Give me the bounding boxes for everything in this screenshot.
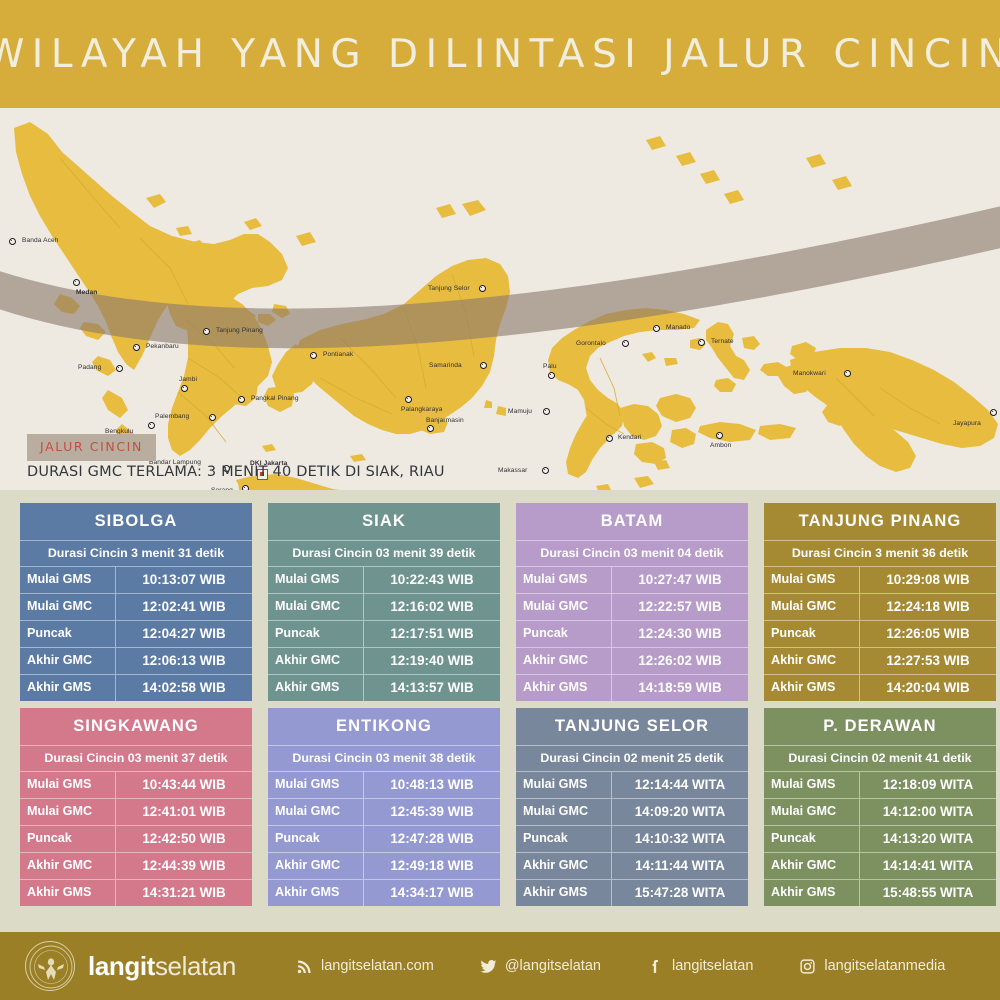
brand-light: selatan	[155, 951, 236, 981]
city-marker-dot	[542, 467, 549, 474]
city-marker-dot	[73, 279, 80, 286]
city-marker-dot	[653, 325, 660, 332]
row-value: 12:24:30 WIB	[612, 621, 748, 647]
row-label: Mulai GMC	[516, 799, 612, 825]
city-label: Pekanbaru	[146, 343, 179, 350]
row-value: 14:14:41 WITA	[860, 853, 996, 879]
table-row: Akhir GMS14:18:59 WIB	[516, 674, 748, 701]
row-label: Puncak	[516, 621, 612, 647]
table-row: Puncak14:13:20 WITA	[764, 825, 996, 852]
row-value: 14:31:21 WIB	[116, 880, 252, 906]
infographic-page: WILAYAH YANG DILINTASI JALUR CINCIN	[0, 0, 1000, 1000]
row-label: Akhir GMC	[764, 853, 860, 879]
row-value: 12:27:53 WIB	[860, 648, 996, 674]
table-row: Mulai GMC14:09:20 WITA	[516, 798, 748, 825]
row-label: Akhir GMS	[268, 880, 364, 906]
table-row: Akhir GMC12:06:13 WIB	[20, 647, 252, 674]
row-label: Mulai GMS	[764, 772, 860, 798]
city-marker-dot	[622, 340, 629, 347]
city-marker-dot	[716, 432, 723, 439]
row-value: 15:48:55 WITA	[860, 880, 996, 906]
card-title: SINGKAWANG	[20, 708, 252, 745]
table-row: Mulai GMS12:18:09 WITA	[764, 771, 996, 798]
table-row: Akhir GMC12:26:02 WIB	[516, 647, 748, 674]
row-label: Mulai GMC	[764, 799, 860, 825]
row-label: Mulai GMS	[764, 567, 860, 593]
table-row: Mulai GMC12:41:01 WIB	[20, 798, 252, 825]
row-label: Akhir GMS	[20, 675, 116, 701]
city-label: Tanjung Selor	[428, 285, 470, 292]
row-label: Akhir GMS	[764, 880, 860, 906]
table-row: Mulai GMS10:22:43 WIB	[268, 566, 500, 593]
row-label: Mulai GMS	[268, 567, 364, 593]
city-marker-dot	[698, 339, 705, 346]
social-label: @langitselatan	[505, 958, 601, 974]
card-duration: Durasi Cincin 3 menit 31 detik	[20, 540, 252, 566]
row-value: 14:11:44 WITA	[612, 853, 748, 879]
city-marker-dot	[9, 238, 16, 245]
timing-card: ENTIKONGDurasi Cincin 03 menit 38 detikM…	[268, 708, 500, 906]
social-link[interactable]: @langitselatan	[480, 958, 601, 975]
row-value: 12:06:13 WIB	[116, 648, 252, 674]
row-value: 12:47:28 WIB	[364, 826, 500, 852]
table-row: Akhir GMC12:49:18 WIB	[268, 852, 500, 879]
row-value: 14:12:00 WITA	[860, 799, 996, 825]
city-label: Manado	[666, 324, 690, 331]
city-label: Palu	[543, 363, 557, 370]
city-label: Pangkal Pinang	[251, 395, 299, 402]
header-banner: WILAYAH YANG DILINTASI JALUR CINCIN	[0, 0, 1000, 108]
city-marker-dot	[209, 414, 216, 421]
table-row: Mulai GMS10:43:44 WIB	[20, 771, 252, 798]
twitter-icon	[480, 958, 497, 975]
table-row: Akhir GMC12:19:40 WIB	[268, 647, 500, 674]
table-row: Mulai GMS10:27:47 WIB	[516, 566, 748, 593]
row-value: 12:19:40 WIB	[364, 648, 500, 674]
row-value: 12:41:01 WIB	[116, 799, 252, 825]
card-duration: Durasi Cincin 03 menit 39 detik	[268, 540, 500, 566]
row-value: 14:13:20 WITA	[860, 826, 996, 852]
city-label: Manokwari	[793, 370, 826, 377]
city-label: Ternate	[711, 338, 734, 345]
table-row: Akhir GMS14:20:04 WIB	[764, 674, 996, 701]
city-marker-dot	[405, 396, 412, 403]
row-value: 12:14:44 WITA	[612, 772, 748, 798]
row-label: Akhir GMC	[268, 853, 364, 879]
row-value: 14:13:57 WIB	[364, 675, 500, 701]
card-title: SIBOLGA	[20, 503, 252, 540]
legend-caption: DURASI GMC TERLAMA: 3 MENIT 40 DETIK DI …	[27, 464, 445, 480]
row-value: 10:29:08 WIB	[860, 567, 996, 593]
city-label: Tanjung Pinang	[216, 327, 263, 334]
card-title: P. DERAWAN	[764, 708, 996, 745]
city-marker-dot	[844, 370, 851, 377]
row-label: Akhir GMS	[20, 880, 116, 906]
row-label: Akhir GMC	[20, 853, 116, 879]
city-label: Palembang	[155, 413, 189, 420]
row-label: Akhir GMC	[764, 648, 860, 674]
table-row: Puncak14:10:32 WITA	[516, 825, 748, 852]
card-title: BATAM	[516, 503, 748, 540]
social-link[interactable]: langitselatan	[647, 958, 753, 975]
city-marker-dot	[990, 409, 997, 416]
row-value: 12:22:57 WIB	[612, 594, 748, 620]
city-label: Padang	[78, 364, 101, 371]
social-label: langitselatanmedia	[824, 958, 945, 974]
timing-card: TANJUNG SELORDurasi Cincin 02 menit 25 d…	[516, 708, 748, 906]
table-row: Puncak12:17:51 WIB	[268, 620, 500, 647]
social-label: langitselatan	[672, 958, 753, 974]
table-row: Mulai GMC14:12:00 WITA	[764, 798, 996, 825]
brand-bold: langit	[88, 951, 155, 981]
row-value: 12:45:39 WIB	[364, 799, 500, 825]
city-marker-dot	[238, 396, 245, 403]
row-value: 14:20:04 WIB	[860, 675, 996, 701]
city-marker-dot	[203, 328, 210, 335]
city-label: Banjarmasin	[426, 417, 464, 424]
row-label: Akhir GMC	[516, 648, 612, 674]
table-row: Puncak12:04:27 WIB	[20, 620, 252, 647]
card-duration: Durasi Cincin 03 menit 38 detik	[268, 745, 500, 771]
city-label: Jayapura	[953, 420, 981, 427]
instagram-icon	[799, 958, 816, 975]
card-title: SIAK	[268, 503, 500, 540]
row-label: Mulai GMS	[20, 567, 116, 593]
row-label: Mulai GMS	[268, 772, 364, 798]
row-label: Mulai GMC	[516, 594, 612, 620]
map-graphic	[0, 108, 1000, 490]
timing-card: SIBOLGADurasi Cincin 3 menit 31 detikMul…	[20, 503, 252, 701]
row-value: 10:13:07 WIB	[116, 567, 252, 593]
row-value: 14:09:20 WITA	[612, 799, 748, 825]
row-label: Mulai GMS	[20, 772, 116, 798]
row-label: Akhir GMS	[516, 880, 612, 906]
card-title: ENTIKONG	[268, 708, 500, 745]
row-value: 10:27:47 WIB	[612, 567, 748, 593]
city-marker-dot	[242, 485, 249, 491]
row-value: 10:22:43 WIB	[364, 567, 500, 593]
row-value: 14:18:59 WIB	[612, 675, 748, 701]
social-label: langitselatan.com	[321, 958, 434, 974]
row-label: Akhir GMS	[516, 675, 612, 701]
city-label: Medan	[76, 289, 97, 296]
table-row: Puncak12:42:50 WIB	[20, 825, 252, 852]
table-row: Akhir GMS14:13:57 WIB	[268, 674, 500, 701]
row-label: Mulai GMC	[268, 799, 364, 825]
langitselatan-seal-logo	[25, 941, 75, 991]
table-row: Mulai GMS12:14:44 WITA	[516, 771, 748, 798]
table-row: Mulai GMC12:16:02 WIB	[268, 593, 500, 620]
city-label: Gorontalo	[576, 340, 606, 347]
row-value: 14:34:17 WIB	[364, 880, 500, 906]
table-row: Akhir GMC14:14:41 WITA	[764, 852, 996, 879]
city-timing-cards: SIBOLGADurasi Cincin 3 menit 31 detikMul…	[0, 503, 1000, 906]
row-label: Puncak	[268, 826, 364, 852]
row-value: 12:26:05 WIB	[860, 621, 996, 647]
table-row: Akhir GMS14:34:17 WIB	[268, 879, 500, 906]
row-value: 15:47:28 WITA	[612, 880, 748, 906]
card-title: TANJUNG PINANG	[764, 503, 996, 540]
timing-card: SIAKDurasi Cincin 03 menit 39 detikMulai…	[268, 503, 500, 701]
table-row: Mulai GMC12:45:39 WIB	[268, 798, 500, 825]
row-value: 12:42:50 WIB	[116, 826, 252, 852]
page-title: WILAYAH YANG DILINTASI JALUR CINCIN	[0, 32, 1000, 77]
row-label: Mulai GMC	[20, 799, 116, 825]
row-value: 12:49:18 WIB	[364, 853, 500, 879]
row-label: Puncak	[764, 621, 860, 647]
timing-card: BATAMDurasi Cincin 03 menit 04 detikMula…	[516, 503, 748, 701]
city-marker-dot	[148, 422, 155, 429]
row-label: Mulai GMC	[20, 594, 116, 620]
city-label: Jambi	[179, 376, 197, 383]
city-marker-dot	[606, 435, 613, 442]
table-row: Puncak12:47:28 WIB	[268, 825, 500, 852]
table-row: Akhir GMS14:02:58 WIB	[20, 674, 252, 701]
brand-wordmark: langitselatan	[88, 951, 236, 982]
social-links: langitselatan.com@langitselatanlangitsel…	[296, 958, 945, 975]
city-marker-dot	[543, 408, 550, 415]
card-duration: Durasi Cincin 02 menit 41 detik	[764, 745, 996, 771]
city-label: Banda Aceh	[22, 237, 59, 244]
table-row: Mulai GMC12:24:18 WIB	[764, 593, 996, 620]
row-label: Mulai GMS	[516, 567, 612, 593]
table-row: Mulai GMC12:22:57 WIB	[516, 593, 748, 620]
city-label: Serang	[211, 487, 233, 490]
card-duration: Durasi Cincin 03 menit 04 detik	[516, 540, 748, 566]
row-value: 14:10:32 WITA	[612, 826, 748, 852]
social-link[interactable]: langitselatanmedia	[799, 958, 945, 975]
row-label: Puncak	[20, 826, 116, 852]
table-row: Puncak12:24:30 WIB	[516, 620, 748, 647]
city-label: Kendari	[618, 434, 641, 441]
timing-card: P. DERAWANDurasi Cincin 02 menit 41 deti…	[764, 708, 996, 906]
card-duration: Durasi Cincin 02 menit 25 detik	[516, 745, 748, 771]
timing-card: SINGKAWANGDurasi Cincin 03 menit 37 deti…	[20, 708, 252, 906]
row-label: Puncak	[268, 621, 364, 647]
city-label: Samarinda	[429, 362, 462, 369]
city-label: Palangkaraya	[401, 406, 443, 413]
row-value: 12:44:39 WIB	[116, 853, 252, 879]
table-row: Akhir GMC14:11:44 WITA	[516, 852, 748, 879]
table-row: Akhir GMS14:31:21 WIB	[20, 879, 252, 906]
city-marker-dot	[133, 344, 140, 351]
city-label: Ambon	[710, 442, 731, 449]
card-title: TANJUNG SELOR	[516, 708, 748, 745]
row-value: 12:18:09 WITA	[860, 772, 996, 798]
table-row: Mulai GMS10:48:13 WIB	[268, 771, 500, 798]
row-label: Akhir GMS	[764, 675, 860, 701]
row-label: Mulai GMS	[516, 772, 612, 798]
city-marker-dot	[548, 372, 555, 379]
row-label: Akhir GMC	[20, 648, 116, 674]
legend-label: JALUR CINCIN	[40, 439, 143, 454]
row-label: Akhir GMC	[268, 648, 364, 674]
row-value: 10:48:13 WIB	[364, 772, 500, 798]
city-marker-dot	[310, 352, 317, 359]
indonesia-map: Banda AcehMedanTanjung PinangPekanbaruPa…	[0, 108, 1000, 490]
card-duration: Durasi Cincin 3 menit 36 detik	[764, 540, 996, 566]
table-row: Mulai GMS10:29:08 WIB	[764, 566, 996, 593]
row-value: 12:16:02 WIB	[364, 594, 500, 620]
row-label: Puncak	[764, 826, 860, 852]
table-row: Akhir GMC12:44:39 WIB	[20, 852, 252, 879]
card-duration: Durasi Cincin 03 menit 37 detik	[20, 745, 252, 771]
table-row: Akhir GMS15:48:55 WITA	[764, 879, 996, 906]
timing-card: TANJUNG PINANGDurasi Cincin 3 menit 36 d…	[764, 503, 996, 701]
table-row: Akhir GMS15:47:28 WITA	[516, 879, 748, 906]
city-label: Pontianak	[323, 351, 353, 358]
row-value: 12:02:41 WIB	[116, 594, 252, 620]
row-label: Puncak	[20, 621, 116, 647]
row-value: 12:24:18 WIB	[860, 594, 996, 620]
facebook-icon	[647, 958, 664, 975]
row-value: 12:26:02 WIB	[612, 648, 748, 674]
row-label: Akhir GMC	[516, 853, 612, 879]
table-row: Akhir GMC12:27:53 WIB	[764, 647, 996, 674]
table-row: Mulai GMC12:02:41 WIB	[20, 593, 252, 620]
legend-band: JALUR CINCIN	[27, 434, 156, 461]
rss-icon	[296, 958, 313, 975]
row-label: Puncak	[516, 826, 612, 852]
row-value: 12:04:27 WIB	[116, 621, 252, 647]
city-marker-dot	[479, 285, 486, 292]
city-label: Makassar	[498, 467, 527, 474]
footer-bar: langitselatan langitselatan.com@langitse…	[0, 932, 1000, 1000]
city-marker-dot	[480, 362, 487, 369]
row-value: 14:02:58 WIB	[116, 675, 252, 701]
table-row: Mulai GMS10:13:07 WIB	[20, 566, 252, 593]
row-value: 12:17:51 WIB	[364, 621, 500, 647]
city-marker-dot	[181, 385, 188, 392]
row-label: Mulai GMC	[764, 594, 860, 620]
social-link[interactable]: langitselatan.com	[296, 958, 434, 975]
city-label: Mamuju	[508, 408, 532, 415]
city-marker-dot	[116, 365, 123, 372]
table-row: Puncak12:26:05 WIB	[764, 620, 996, 647]
row-value: 10:43:44 WIB	[116, 772, 252, 798]
city-marker-dot	[427, 425, 434, 432]
row-label: Mulai GMC	[268, 594, 364, 620]
row-label: Akhir GMS	[268, 675, 364, 701]
